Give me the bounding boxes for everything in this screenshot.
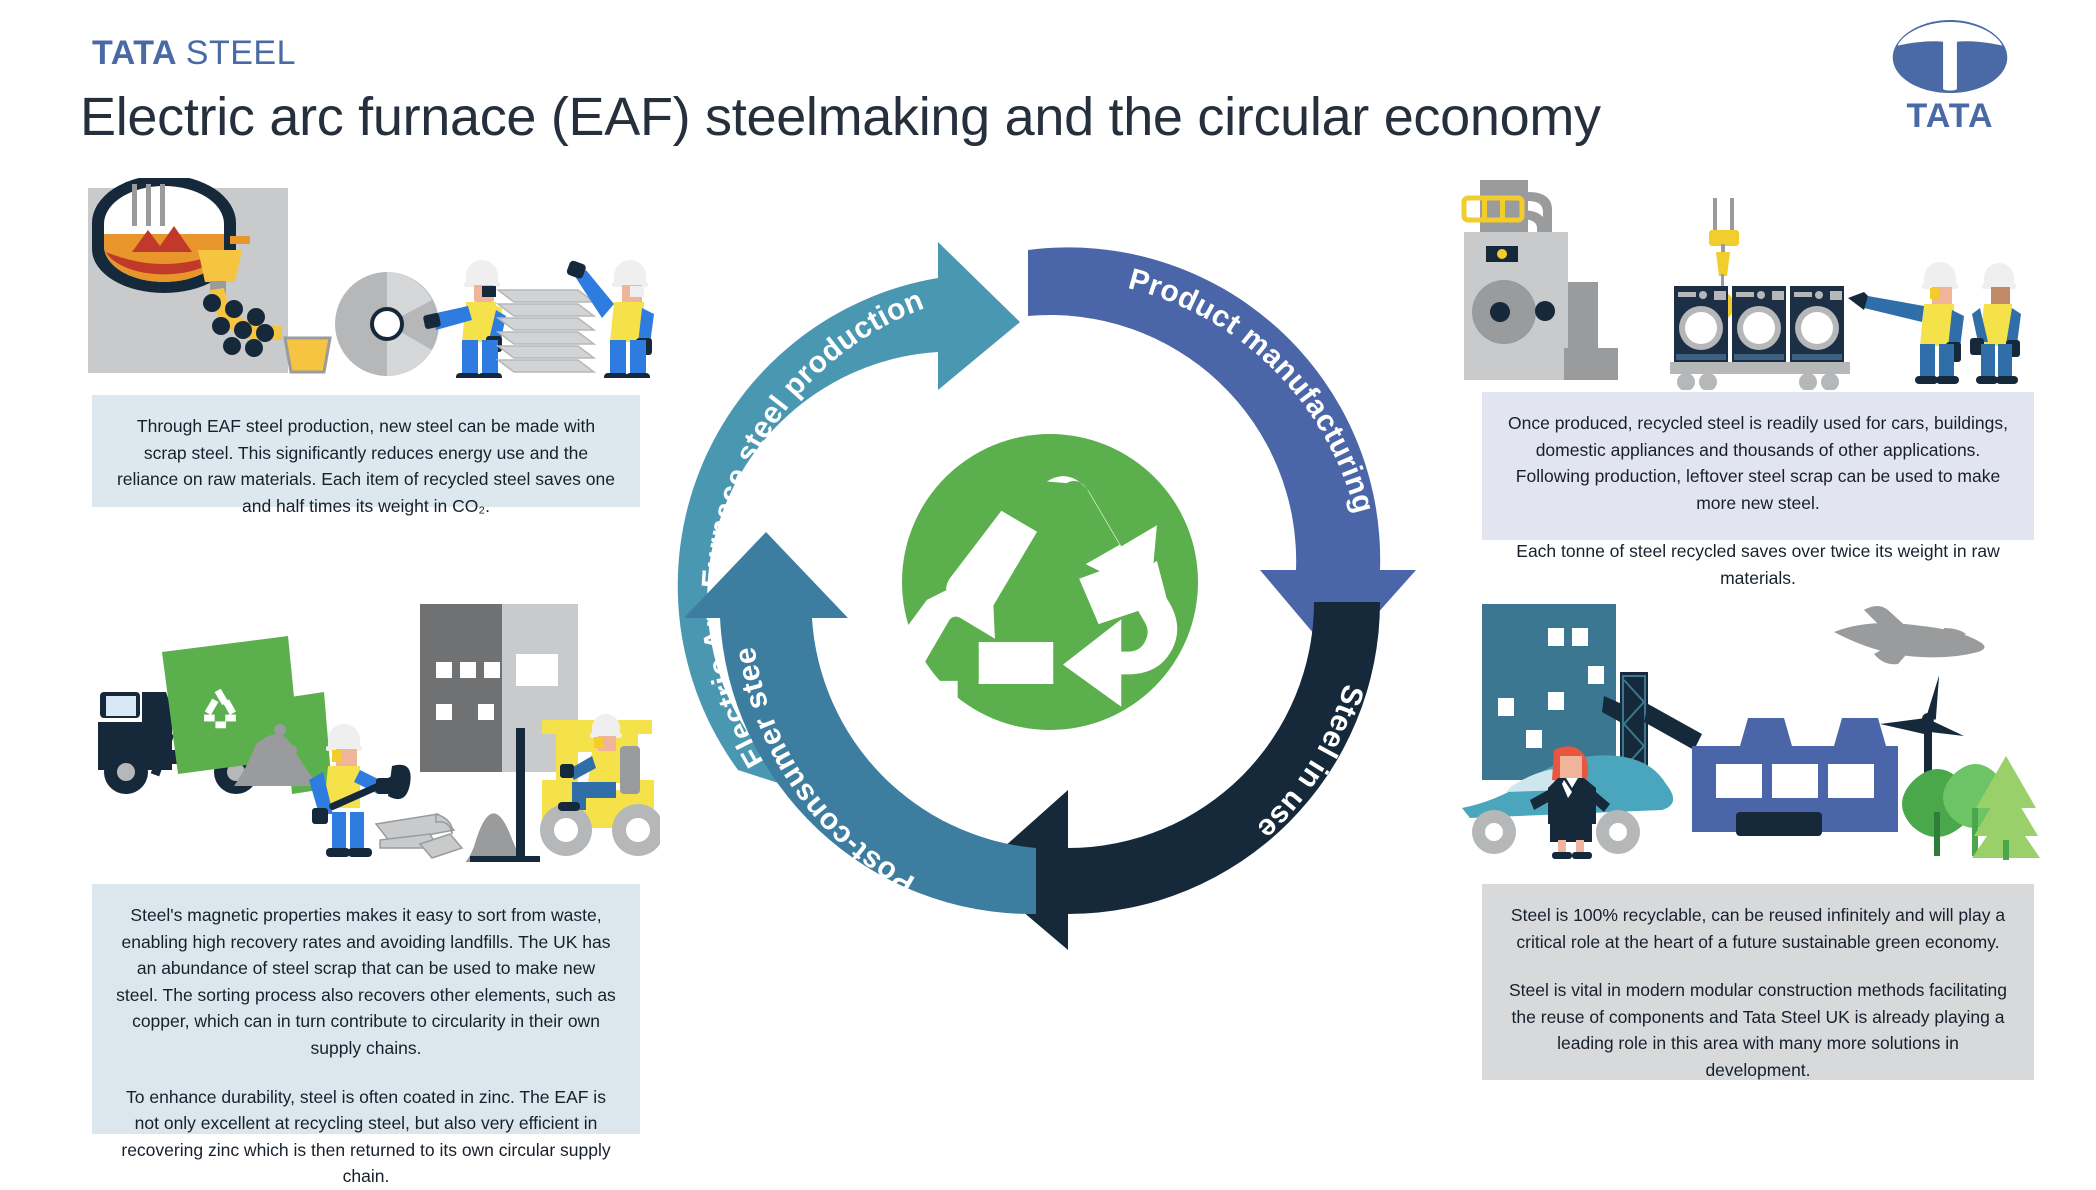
page-title: Electric arc furnace (EAF) steelmaking a… xyxy=(80,86,1601,148)
panel-eaf: Through EAF steel production, new steel … xyxy=(92,395,640,507)
panel-manufacturing-paragraph-2: Each tonne of steel recycled saves over … xyxy=(1504,538,2012,591)
worker-standing xyxy=(1970,263,2021,384)
brand-steel: STEEL xyxy=(186,34,296,72)
panel-scrap: Steel's magnetic properties makes it eas… xyxy=(92,884,640,1134)
panel-steel-in-use-paragraph-2: Steel is vital in modern modular constru… xyxy=(1504,977,2012,1083)
panel-steel-in-use-paragraph-1: Steel is 100% recyclable, can be reused … xyxy=(1504,902,2012,955)
recycling-symbol-icon xyxy=(878,434,1198,730)
scrap-illustration xyxy=(80,600,660,862)
scrap-metal-pile xyxy=(376,814,462,858)
tata-logo-word: TATA xyxy=(1906,97,1993,136)
factory-building xyxy=(1692,718,1898,836)
tata-t-emblem-icon xyxy=(1888,18,2012,95)
panel-scrap-paragraph-2: To enhance durability, steel is often co… xyxy=(114,1084,618,1190)
aeroplane xyxy=(1834,606,1985,664)
eaf-illustration xyxy=(80,178,680,378)
panel-manufacturing: Once produced, recycled steel is readily… xyxy=(1482,392,2034,540)
manufacturing-illustration xyxy=(1460,170,2040,390)
panel-manufacturing-paragraph-1: Once produced, recycled steel is readily… xyxy=(1504,410,2012,516)
worker-left xyxy=(423,260,506,378)
tata-steel-wordmark: TATA STEEL xyxy=(92,34,296,73)
circular-economy-wheel: Electric Arc Furnace steel production Pr… xyxy=(620,150,1480,1050)
panel-scrap-paragraph-1: Steel's magnetic properties makes it eas… xyxy=(114,902,618,1062)
steel-in-use-illustration xyxy=(1460,600,2040,862)
panel-steel-in-use: Steel is 100% recyclable, can be reused … xyxy=(1482,884,2034,1080)
brand-tata: TATA xyxy=(92,34,176,72)
steel-plate-stack xyxy=(498,290,594,372)
worker-pointing xyxy=(1848,262,1964,384)
washing-machines xyxy=(1674,286,1844,362)
panel-eaf-paragraph-1: Through EAF steel production, new steel … xyxy=(114,413,618,519)
trees xyxy=(1902,756,2040,860)
tata-corporate-logo: TATA xyxy=(1886,18,2014,136)
